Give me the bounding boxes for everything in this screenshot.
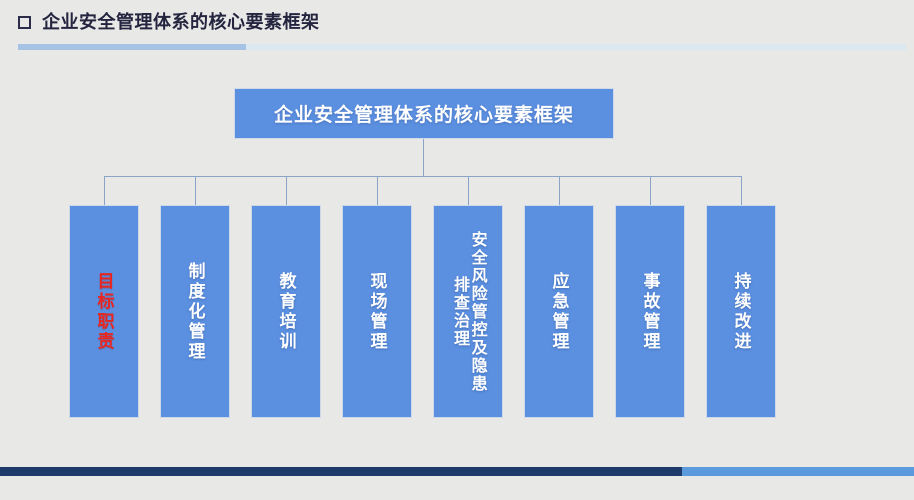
diagram-node-label-3: 教育培训 [276,272,295,352]
diagram-node-label-4: 现场管理 [367,272,386,352]
header-underline-accent [18,44,246,50]
connector-horizontal-bus [104,176,741,177]
header-title-row: 企业安全管理体系的核心要素框架 [18,13,320,31]
page-header: 企业安全管理体系的核心要素框架 [0,0,914,56]
connector-drop-4 [377,176,378,205]
footer-bar-light [682,467,914,476]
connector-drop-7 [650,176,651,205]
diagram-node-label-1: 目标职责 [94,272,113,352]
connector-drop-8 [741,176,742,205]
diagram-node-label-5: 安全风险管控及隐患排查治理 [450,224,485,400]
diagram-node-4[interactable]: 现场管理 [342,205,412,418]
diagram-node-7[interactable]: 事故管理 [615,205,685,418]
diagram-root-label: 企业安全管理体系的核心要素框架 [274,100,574,127]
page-title: 企业安全管理体系的核心要素框架 [42,13,320,31]
diagram-canvas: 企业安全管理体系的核心要素框架 目标职责 制度化管理 教育培训 现场管理 安全风… [0,56,914,460]
footer-bar-dark [0,467,682,476]
diagram-node-3[interactable]: 教育培训 [251,205,321,418]
diagram-node-label-2: 制度化管理 [185,262,204,362]
connector-root-stem [423,139,424,176]
page-footer [0,467,914,476]
diagram-node-5[interactable]: 安全风险管控及隐患排查治理 [433,205,503,418]
diagram-node-6[interactable]: 应急管理 [524,205,594,418]
diagram-leaf-row: 目标职责 制度化管理 教育培训 现场管理 安全风险管控及隐患排查治理 应急管理 … [0,205,914,418]
diagram-root-node[interactable]: 企业安全管理体系的核心要素框架 [234,88,614,139]
diagram-node-1[interactable]: 目标职责 [69,205,139,418]
square-outline-icon [18,16,31,29]
connector-drop-3 [286,176,287,205]
connector-drop-2 [195,176,196,205]
connector-drop-5 [468,176,469,205]
connector-drop-6 [559,176,560,205]
diagram-node-8[interactable]: 持续改进 [706,205,776,418]
connector-drop-1 [104,176,105,205]
diagram-node-2[interactable]: 制度化管理 [160,205,230,418]
diagram-node-label-8: 持续改进 [731,272,750,352]
diagram-node-label-6: 应急管理 [549,272,568,352]
diagram-node-label-7: 事故管理 [640,272,659,352]
